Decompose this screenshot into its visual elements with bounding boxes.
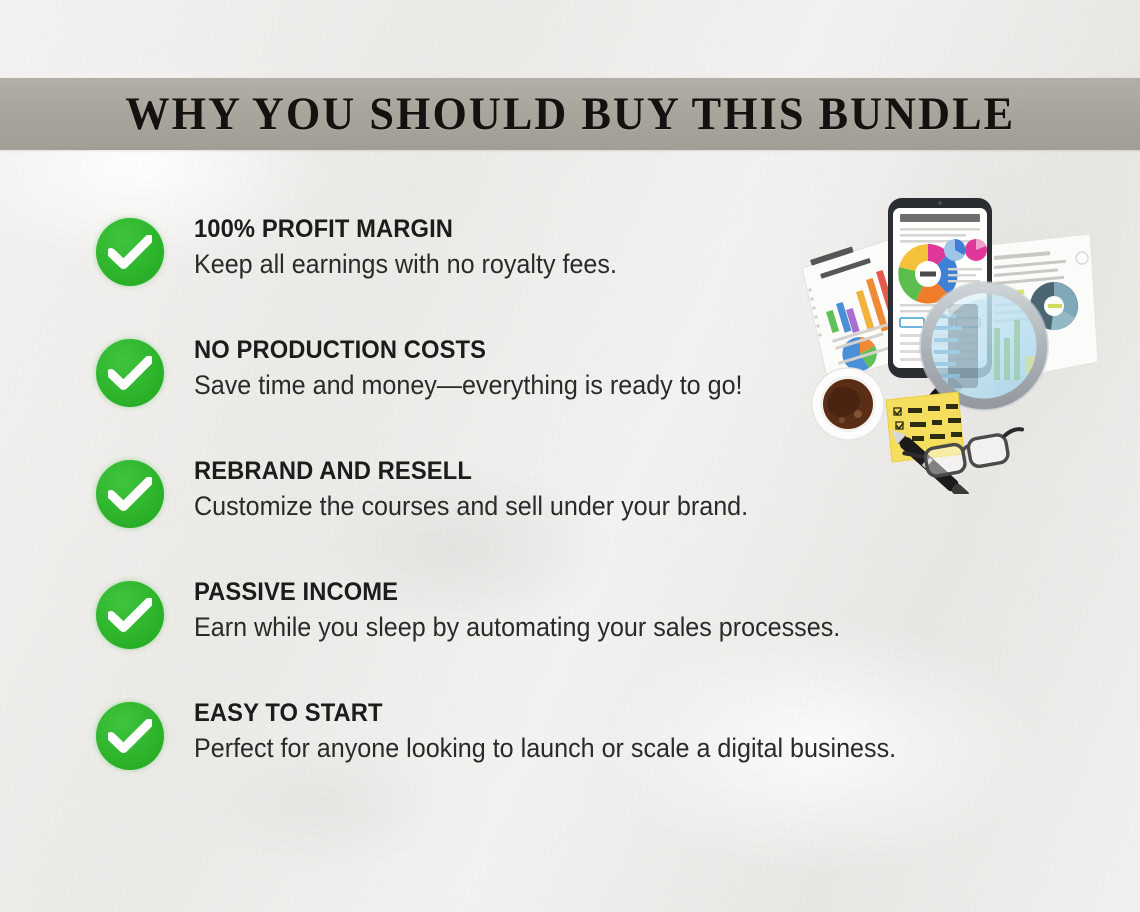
benefit-description: Earn while you sleep by automating your … <box>194 612 840 644</box>
benefit-text-block: PASSIVE INCOME Earn while you sleep by a… <box>194 567 889 644</box>
benefit-item: PASSIVE INCOME Earn while you sleep by a… <box>96 567 926 688</box>
benefit-title: EASY TO START <box>194 700 911 726</box>
benefit-item: NO PRODUCTION COSTS Save time and money—… <box>96 325 926 446</box>
pie-chart-small-magenta <box>965 239 987 261</box>
check-circle-icon <box>96 218 164 286</box>
benefit-item: 100% PROFIT MARGIN Keep all earnings wit… <box>96 204 926 325</box>
check-circle-icon <box>96 339 164 407</box>
benefit-description: Save time and money—everything is ready … <box>194 370 743 402</box>
benefit-title: 100% PROFIT MARGIN <box>194 216 626 242</box>
benefit-description: Keep all earnings with no royalty fees. <box>194 249 617 281</box>
benefit-title: NO PRODUCTION COSTS <box>194 337 754 363</box>
check-circle-icon <box>96 581 164 649</box>
benefit-item: EASY TO START Perfect for anyone looking… <box>96 688 926 809</box>
benefit-item: REBRAND AND RESELL Customize the courses… <box>96 446 926 567</box>
benefit-text-block: 100% PROFIT MARGIN Keep all earnings wit… <box>194 204 649 281</box>
benefit-title: REBRAND AND RESELL <box>194 458 760 484</box>
benefit-text-block: NO PRODUCTION COSTS Save time and money—… <box>194 325 784 402</box>
benefit-title: PASSIVE INCOME <box>194 579 854 605</box>
title-band: WHY YOU SHOULD BUY THIS BUNDLE <box>0 78 1140 150</box>
benefit-text-block: REBRAND AND RESELL Customize the courses… <box>194 446 790 523</box>
benefit-description: Perfect for anyone looking to launch or … <box>194 733 896 765</box>
page-title: WHY YOU SHOULD BUY THIS BUNDLE <box>125 91 1015 138</box>
poster-canvas: WHY YOU SHOULD BUY THIS BUNDLE 100% PROF… <box>0 0 1140 912</box>
benefits-list: 100% PROFIT MARGIN Keep all earnings wit… <box>96 204 926 809</box>
check-circle-icon <box>96 702 164 770</box>
benefit-description: Customize the courses and sell under you… <box>194 491 748 523</box>
check-circle-icon <box>96 460 164 528</box>
benefit-text-block: EASY TO START Perfect for anyone looking… <box>194 688 949 765</box>
pie-chart-small-blue <box>944 239 966 261</box>
